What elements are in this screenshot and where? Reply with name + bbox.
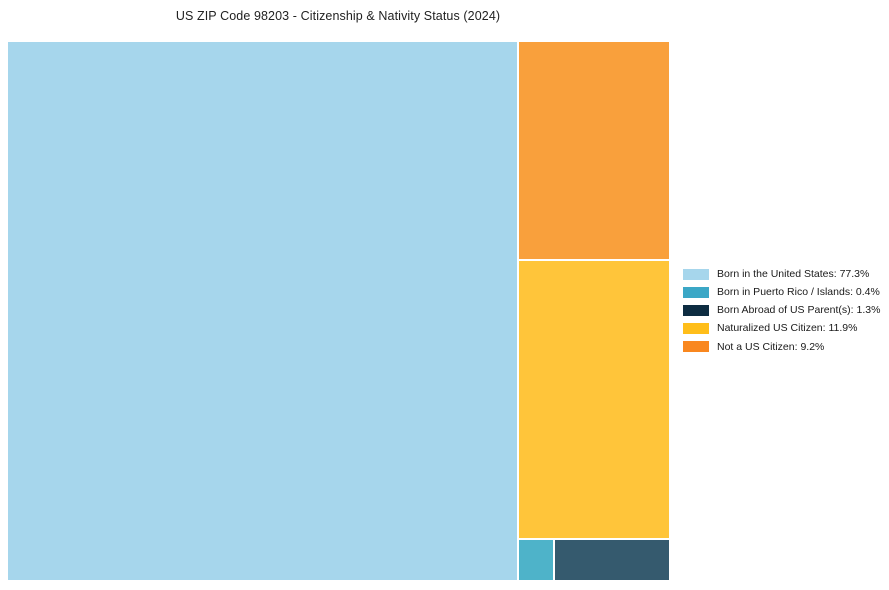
legend-item[interactable]: Born Abroad of US Parent(s): 1.3%: [683, 301, 883, 319]
legend-label: Not a US Citizen: 9.2%: [717, 342, 824, 353]
legend-swatch-icon: [683, 305, 709, 316]
legend-item[interactable]: Not a US Citizen: 9.2%: [683, 338, 883, 356]
treemap-tile[interactable]: Born Abroad of US Parent(s): 1.3%: [555, 540, 669, 580]
treemap-tile[interactable]: Naturalized US Citizen: 11.9%: [519, 261, 669, 538]
legend-label: Born in Puerto Rico / Islands: 0.4%: [717, 287, 880, 298]
legend-swatch-icon: [683, 341, 709, 352]
chart-title: US ZIP Code 98203 - Citizenship & Nativi…: [0, 9, 676, 23]
legend-swatch-icon: [683, 287, 709, 298]
legend-item[interactable]: Naturalized US Citizen: 11.9%: [683, 320, 883, 338]
legend-swatch-icon: [683, 323, 709, 334]
treemap-tile[interactable]: Born in the United States: 77.3%: [8, 42, 517, 580]
treemap-tile[interactable]: Born in Puerto Rico / Islands: 0.4%: [519, 540, 553, 580]
treemap-plot-area: Born in the United States: 77.3%Not a US…: [8, 42, 669, 580]
legend-item[interactable]: Born in Puerto Rico / Islands: 0.4%: [683, 283, 883, 301]
legend-swatch-icon: [683, 269, 709, 280]
legend-label: Born in the United States: 77.3%: [717, 269, 869, 280]
legend-label: Naturalized US Citizen: 11.9%: [717, 323, 857, 334]
chart-legend: Born in the United States: 77.3%Born in …: [683, 265, 883, 356]
legend-label: Born Abroad of US Parent(s): 1.3%: [717, 305, 880, 316]
treemap-tile[interactable]: Not a US Citizen: 9.2%: [519, 42, 669, 259]
legend-item[interactable]: Born in the United States: 77.3%: [683, 265, 883, 283]
treemap-chart: US ZIP Code 98203 - Citizenship & Nativi…: [0, 0, 889, 590]
